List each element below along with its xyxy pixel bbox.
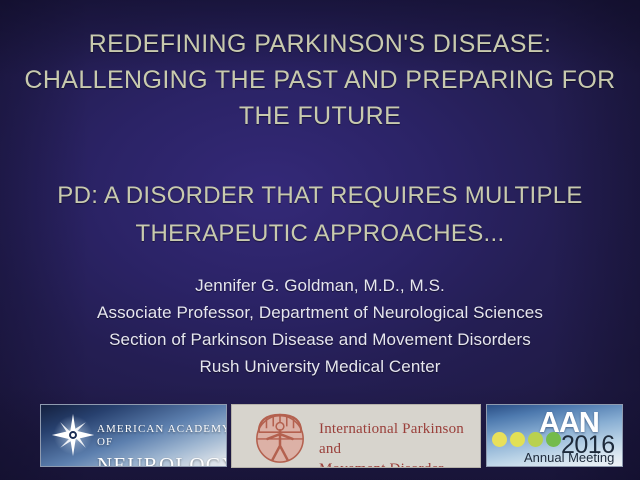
title-line-1: REDEFINING PARKINSON'S DISEASE: xyxy=(0,26,640,62)
logo-bar: AMERICAN ACADEMY OF NEUROLOGY® Internati… xyxy=(0,402,640,472)
title-line-2: CHALLENGING THE PAST AND PREPARING FOR xyxy=(0,62,640,98)
aan2016-tagline: Annual Meeting xyxy=(524,451,614,465)
aan-wordmark: AMERICAN ACADEMY OF NEUROLOGY® xyxy=(97,423,227,467)
presenter-section: Section of Parkinson Disease and Movemen… xyxy=(0,326,640,353)
logo-movement-disorder-society: International Parkinson and Movement Dis… xyxy=(231,404,481,468)
dot-3 xyxy=(528,432,543,447)
presentation-slide: REDEFINING PARKINSON'S DISEASE: CHALLENG… xyxy=(0,0,640,480)
title-line-3: THE FUTURE xyxy=(0,98,640,134)
subtitle-line-1: PD: A DISORDER THAT REQUIRES MULTIPLE xyxy=(0,177,640,215)
slide-subtitle: PD: A DISORDER THAT REQUIRES MULTIPLE TH… xyxy=(0,177,640,253)
subtitle-line-2: THERAPEUTIC APPROACHES... xyxy=(0,215,640,253)
mds-wordmark: International Parkinson and Movement Dis… xyxy=(319,419,480,468)
mds-line-2: Movement Disorder Society xyxy=(319,459,480,468)
aan-line-1: AMERICAN ACADEMY OF xyxy=(97,423,227,449)
logo-american-academy-of-neurology: AMERICAN ACADEMY OF NEUROLOGY® xyxy=(40,404,227,467)
dot-4 xyxy=(546,432,561,447)
dot-1 xyxy=(492,432,507,447)
mds-line-1: International Parkinson and xyxy=(319,419,480,459)
aan-line-2: NEUROLOGY® xyxy=(97,449,227,467)
starburst-icon xyxy=(51,413,95,457)
vitruvian-brain-icon xyxy=(246,409,314,465)
presenter-institution: Rush University Medical Center xyxy=(0,353,640,380)
aan-neurology-text: NEUROLOGY xyxy=(97,453,227,467)
aan2016-dots xyxy=(492,432,561,447)
logo-aan-2016-annual-meeting: AAN 2016 Annual Meeting xyxy=(486,404,623,467)
presenter-name: Jennifer G. Goldman, M.D., M.S. xyxy=(0,272,640,299)
dot-2 xyxy=(510,432,525,447)
presenter-byline: Jennifer G. Goldman, M.D., M.S. Associat… xyxy=(0,272,640,380)
slide-title: REDEFINING PARKINSON'S DISEASE: CHALLENG… xyxy=(0,26,640,134)
presenter-title: Associate Professor, Department of Neuro… xyxy=(0,299,640,326)
